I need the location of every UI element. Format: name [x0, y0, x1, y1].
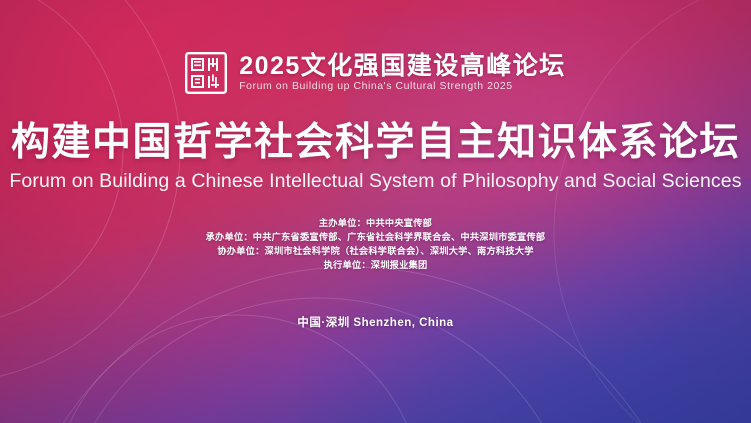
credit-line-executor: 执行单位：深圳报业集团 — [0, 258, 751, 272]
credit-line-organizer: 承办单位：中共广东省委宣传部、广东省社会科学界联合会、中共深圳市委宣传部 — [0, 230, 751, 244]
logo-lockup: 2025文化强国建设高峰论坛 Forum on Building up Chin… — [0, 52, 751, 94]
lockup-title-english: Forum on Building up China's Cultural St… — [239, 81, 512, 93]
location-label: 中国·深圳 Shenzhen, China — [0, 314, 751, 330]
credit-line-cohost: 协办单位：深圳市社会科学院（社会科学联合会）、深圳大学、南方科技大学 — [0, 244, 751, 258]
credit-line-host: 主办单位：中共中央宣传部 — [0, 216, 751, 230]
page-title-english: Forum on Building a Chinese Intellectual… — [0, 170, 751, 193]
credits-block: 主办单位：中共中央宣传部 承办单位：中共广东省委宣传部、广东省社会科学界联合会、… — [0, 216, 751, 272]
lockup-title-chinese: 2025文化强国建设高峰论坛 — [239, 53, 566, 79]
page-title-chinese: 构建中国哲学社会科学自主知识体系论坛 — [0, 122, 751, 165]
conference-banner: 2025文化强国建设高峰论坛 Forum on Building up Chin… — [0, 0, 751, 423]
seal-stamp-icon — [185, 52, 227, 94]
